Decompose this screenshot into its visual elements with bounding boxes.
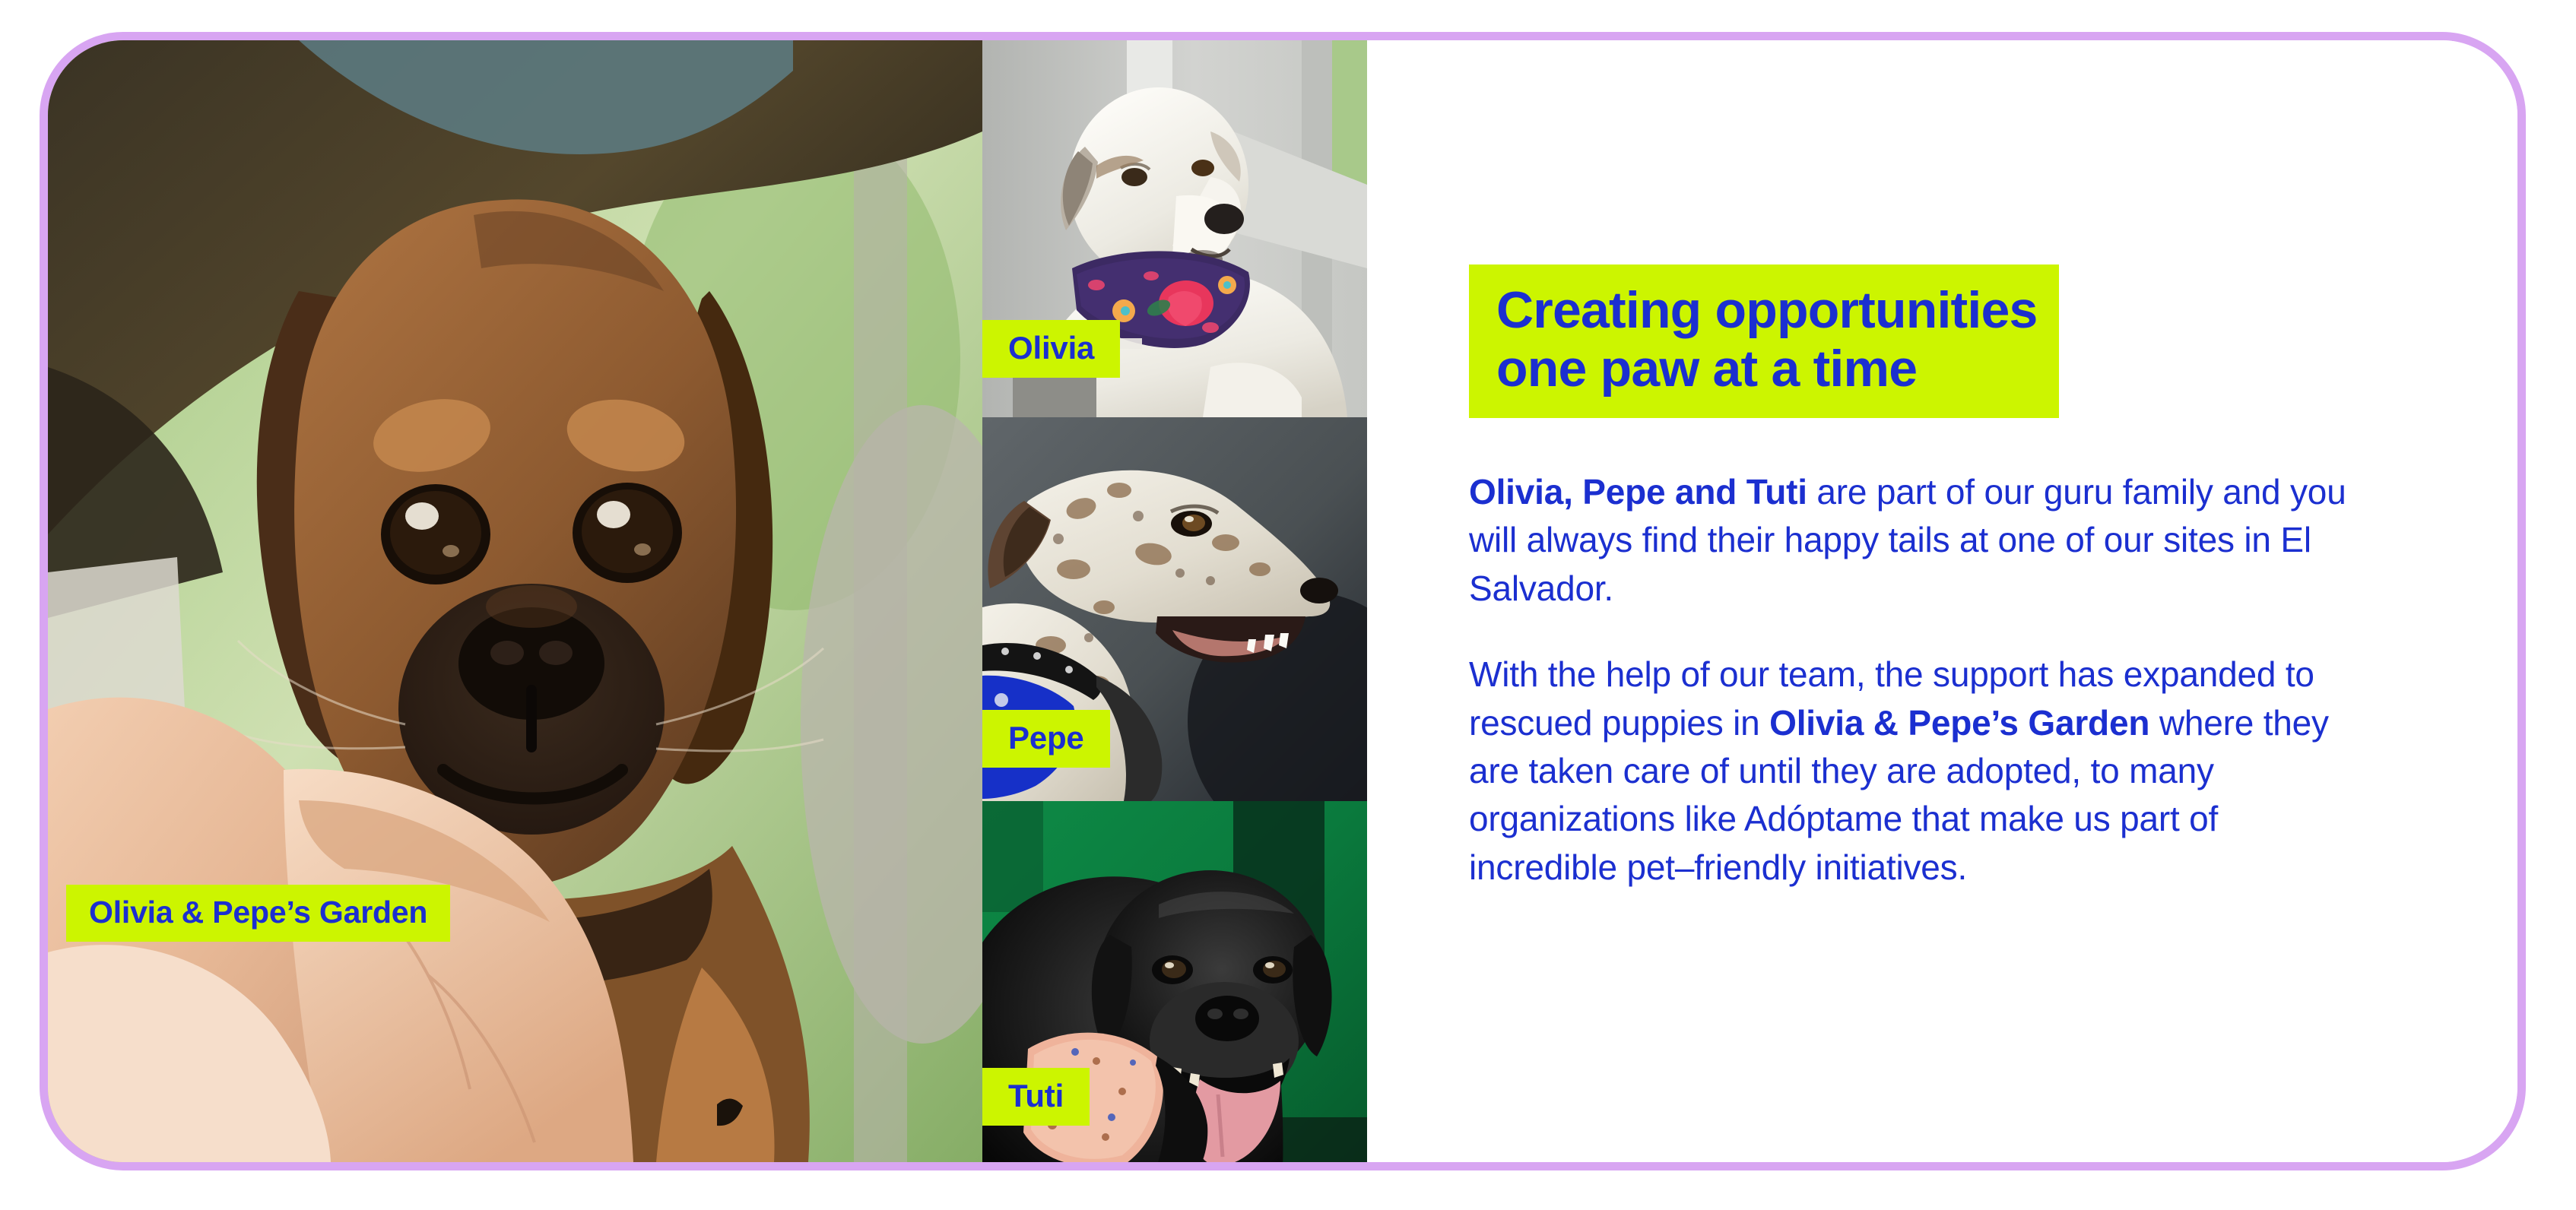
paragraph-2-bold: Olivia & Pepe’s Garden: [1769, 703, 2149, 743]
hero-photo-illustration: [48, 40, 982, 1162]
paragraph-1: Olivia, Pepe and Tuti are part of our gu…: [1469, 468, 2366, 613]
thumbnail-olivia-label: Olivia: [982, 320, 1120, 378]
body-copy: Olivia, Pepe and Tuti are part of our gu…: [1469, 468, 2366, 892]
thumbnail-tuti-label: Tuti: [982, 1068, 1090, 1126]
text-panel: Creating opportunities one paw at a time…: [1367, 40, 2517, 1162]
thumbnail-pepe[interactable]: Pepe: [982, 417, 1367, 801]
headline-line-1: Creating opportunities: [1496, 281, 2038, 340]
feature-card: Olivia & Pepe’s Garden: [40, 32, 2526, 1170]
thumbnail-tuti[interactable]: Tuti: [982, 801, 1367, 1162]
page-root: Olivia & Pepe’s Garden: [0, 0, 2576, 1210]
headline-line-2: one paw at a time: [1496, 340, 2038, 398]
thumbnail-olivia[interactable]: Olivia: [982, 40, 1367, 417]
text-panel-content: Creating opportunities one paw at a time…: [1469, 264, 2412, 892]
paragraph-2: With the help of our team, the support h…: [1469, 651, 2366, 892]
thumbnail-pepe-label: Pepe: [982, 710, 1110, 768]
thumbnail-column: Olivia: [982, 40, 1367, 1162]
headline: Creating opportunities one paw at a time: [1469, 264, 2059, 418]
hero-photo-label: Olivia & Pepe’s Garden: [66, 885, 450, 942]
paragraph-1-bold: Olivia, Pepe and Tuti: [1469, 472, 1807, 512]
hero-photo: Olivia & Pepe’s Garden: [48, 40, 982, 1162]
